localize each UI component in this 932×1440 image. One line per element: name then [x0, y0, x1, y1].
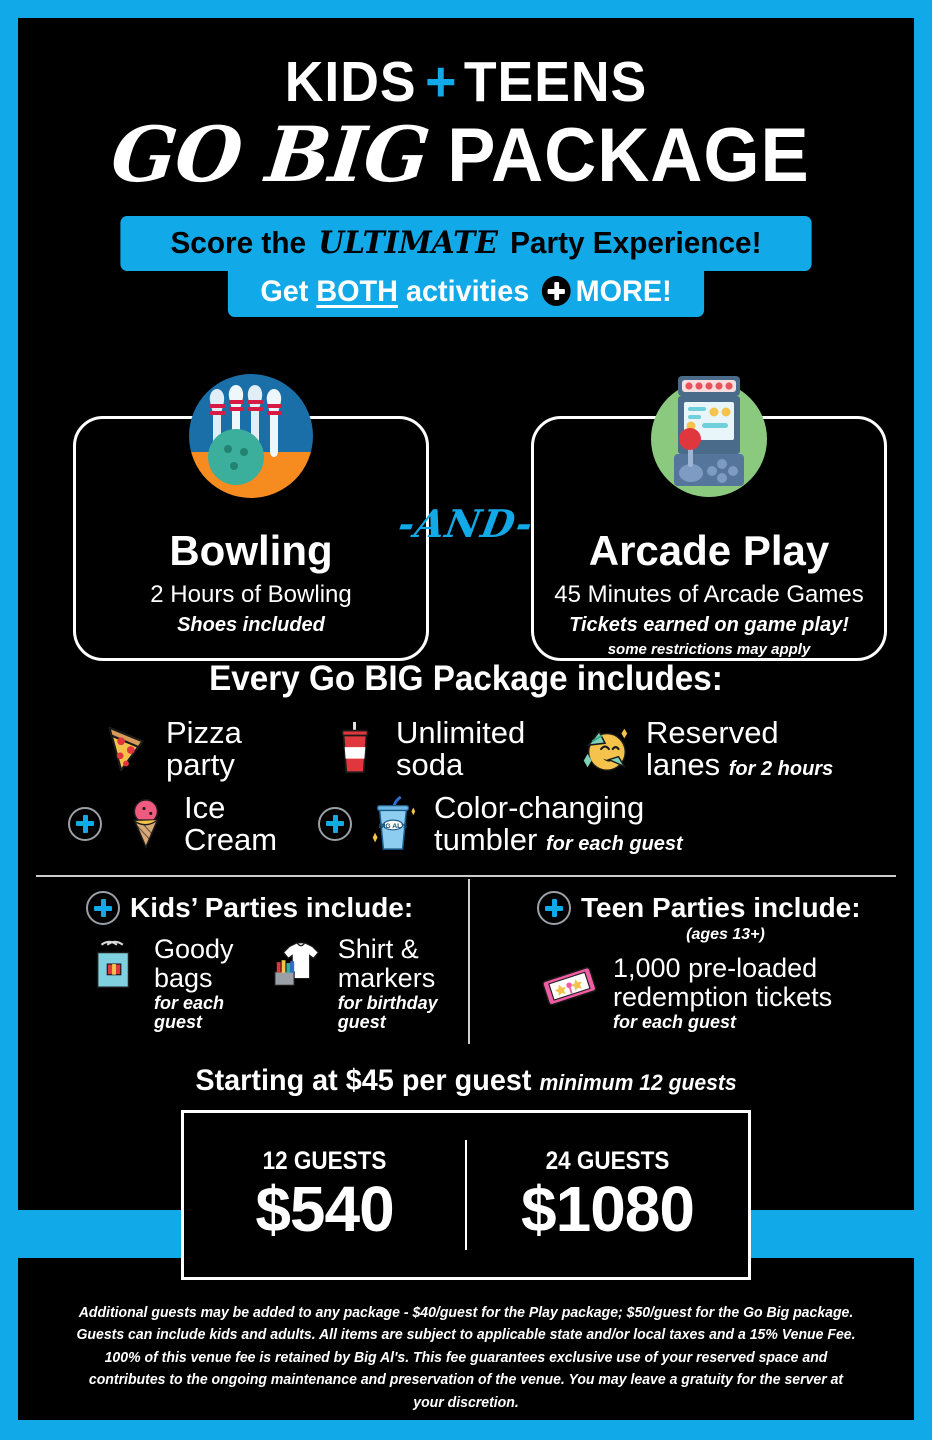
include-line2: lanes — [646, 747, 720, 782]
tier-price: $540 — [255, 1173, 393, 1245]
kids-sub: for birthday guest — [338, 994, 463, 1032]
include-line1: Unlimited — [396, 715, 525, 750]
teen-items: 1,000 pre-loaded redemption tickets for … — [537, 954, 914, 1032]
poster-frame: KIDS+TEENS GO BIGPACKAGE Score the ULTIM… — [0, 0, 932, 1440]
include-item-soda: Unlimited soda — [326, 717, 576, 780]
include-item-tumbler: BIG AL'S Color-changing tumbler for each… — [318, 792, 683, 855]
goody-bag-icon — [86, 935, 144, 997]
activity-title: Bowling — [76, 527, 426, 575]
activity-note: Tickets earned on game play! — [534, 614, 884, 637]
teen-sub: for each guest — [613, 1013, 832, 1032]
include-line2: Cream — [184, 822, 277, 857]
price-tier-24: 24 GUESTS $1080 — [467, 1147, 748, 1243]
plus-badge-icon — [318, 807, 352, 841]
include-label: Reserved lanes for 2 hours — [646, 717, 833, 780]
tagline-secondary: Get BOTH activities MORE! — [228, 271, 704, 317]
include-line1: Ice — [184, 790, 225, 825]
include-line2: tumbler — [434, 822, 537, 857]
tagline-more: MORE! — [576, 275, 672, 308]
kids-line1: Shirt & — [338, 934, 419, 964]
tagline-banner: Score the ULTIMATE Party Experience! Get… — [18, 216, 914, 317]
tier-guests-label: 24 GUESTS — [481, 1147, 734, 1176]
kids-items: Goody bags for each guest — [86, 935, 463, 1031]
include-small: for 2 hours — [729, 758, 833, 780]
party-face-icon — [576, 718, 634, 780]
tagline-get: Get — [260, 275, 308, 308]
tagline-pre: Score the — [170, 225, 306, 260]
teen-item-tickets: 1,000 pre-loaded redemption tickets for … — [537, 954, 832, 1032]
include-line2: party — [166, 747, 235, 782]
bowling-icon — [176, 361, 326, 511]
include-item-pizza: Pizza party — [96, 717, 326, 780]
teen-parties-heading: Teen Parties include: — [537, 891, 914, 925]
include-small: for each guest — [546, 833, 683, 855]
tier-guests-label: 12 GUESTS — [198, 1147, 451, 1176]
starting-price-line: Starting at $45 per guest minimum 12 gue… — [36, 1064, 896, 1098]
tagline-primary: Score the ULTIMATE Party Experience! — [120, 216, 811, 271]
includes-row-2: Ice Cream BIG AL'S Color-changing — [18, 792, 914, 855]
include-line2: soda — [396, 747, 463, 782]
include-label: Ice Cream — [184, 792, 277, 855]
arcade-machine-icon — [634, 361, 784, 511]
teen-line2: redemption tickets — [613, 982, 832, 1012]
poster-body: KIDS+TEENS GO BIGPACKAGE Score the ULTIM… — [18, 18, 914, 1420]
soda-cup-icon — [326, 718, 384, 780]
include-label: Color-changing tumbler for each guest — [434, 792, 683, 855]
includes-row-1: Pizza party Unlimited soda — [18, 717, 914, 780]
include-line1: Pizza — [166, 715, 242, 750]
plus-glyph: + — [417, 50, 464, 114]
plus-badge-icon — [86, 891, 120, 925]
parties-section: Kids’ Parties include: Goody bags for ea… — [18, 891, 914, 1032]
include-item-ice-cream: Ice Cream — [68, 792, 318, 855]
include-item-lanes: Reserved lanes for 2 hours — [576, 717, 833, 780]
include-line1: Reserved — [646, 715, 779, 750]
minimum-guests-note: minimum 12 guests — [539, 1070, 736, 1095]
includes-heading: Every Go BIG Package includes: — [40, 659, 891, 699]
kids-sub: for each guest — [154, 994, 270, 1032]
section-divider — [36, 875, 896, 877]
kids-heading-label: Kids’ Parties include: — [130, 892, 413, 924]
pizza-slice-icon — [96, 718, 154, 780]
kids-item-label: Shirt & markers for birthday guest — [338, 935, 463, 1031]
tumbler-cup-icon: BIG AL'S — [364, 793, 422, 855]
activity-subtitle: 45 Minutes of Arcade Games — [534, 581, 884, 609]
fine-print: Additional guests may be added to any pa… — [72, 1302, 860, 1414]
price-tier-12: 12 GUESTS $540 — [184, 1147, 465, 1243]
kids-line2: markers — [338, 963, 436, 993]
tagline-ultimate: ULTIMATE — [314, 225, 501, 261]
tagline-both: BOTH — [316, 275, 398, 308]
activity-title: Arcade Play — [534, 527, 884, 575]
activity-subtitle: 2 Hours of Bowling — [76, 581, 426, 609]
teen-line1: 1,000 pre-loaded — [613, 953, 817, 983]
title-teens: TEENS — [464, 50, 647, 114]
activity-cards: Bowling 2 Hours of Bowling Shoes include… — [18, 361, 914, 611]
column-divider — [468, 879, 470, 1044]
plus-badge-icon — [68, 807, 102, 841]
activity-note: Shoes included — [76, 614, 426, 637]
kids-item-label: Goody bags for each guest — [154, 935, 270, 1031]
activity-card-arcade: Arcade Play 45 Minutes of Arcade Games T… — [531, 416, 887, 661]
tagline-post: Party Experience! — [510, 225, 761, 260]
include-label: Unlimited soda — [396, 717, 525, 780]
kids-parties-heading: Kids’ Parties include: — [86, 891, 463, 925]
pricing-box: 12 GUESTS $540 24 GUESTS $1080 — [181, 1110, 751, 1280]
kids-line2: bags — [154, 963, 213, 993]
plus-badge-icon — [537, 891, 571, 925]
kids-item-shirt-markers: Shirt & markers for birthday guest — [270, 935, 463, 1031]
title-gobig: GO BIG — [108, 117, 432, 193]
page-title-line2: GO BIGPACKAGE — [18, 117, 914, 194]
title-kids: KIDS — [285, 50, 417, 114]
title-package: PACKAGE — [438, 118, 810, 194]
include-label: Pizza party — [166, 717, 242, 780]
tier-price: $1080 — [521, 1173, 694, 1245]
includes-list: Pizza party Unlimited soda — [18, 717, 914, 855]
kids-item-goody-bags: Goody bags for each guest — [86, 935, 270, 1031]
plus-badge-icon — [542, 276, 571, 306]
tagline-activities: activities — [406, 275, 529, 308]
activity-fine: some restrictions may apply — [534, 641, 884, 658]
and-separator: -AND- — [395, 501, 537, 546]
kids-parties-column: Kids’ Parties include: Goody bags for ea… — [18, 891, 463, 1032]
activity-card-bowling: Bowling 2 Hours of Bowling Shoes include… — [73, 416, 429, 661]
teen-item-label: 1,000 pre-loaded redemption tickets for … — [613, 954, 832, 1032]
kids-line1: Goody — [154, 934, 234, 964]
tumbler-brand: BIG AL'S — [379, 823, 408, 830]
ice-cream-cone-icon — [114, 793, 172, 855]
ticket-icon — [537, 954, 603, 1016]
include-line1: Color-changing — [434, 790, 644, 825]
teen-heading-label: Teen Parties include: — [581, 892, 861, 924]
shirt-markers-icon — [270, 935, 328, 997]
page-title-line1: KIDS+TEENS — [45, 18, 887, 111]
teen-parties-column: Teen Parties include: (ages 13+) — [463, 891, 914, 1032]
teen-ages-note: (ages 13+) — [537, 926, 914, 944]
starting-price-label: Starting at $45 per guest — [195, 1064, 531, 1097]
